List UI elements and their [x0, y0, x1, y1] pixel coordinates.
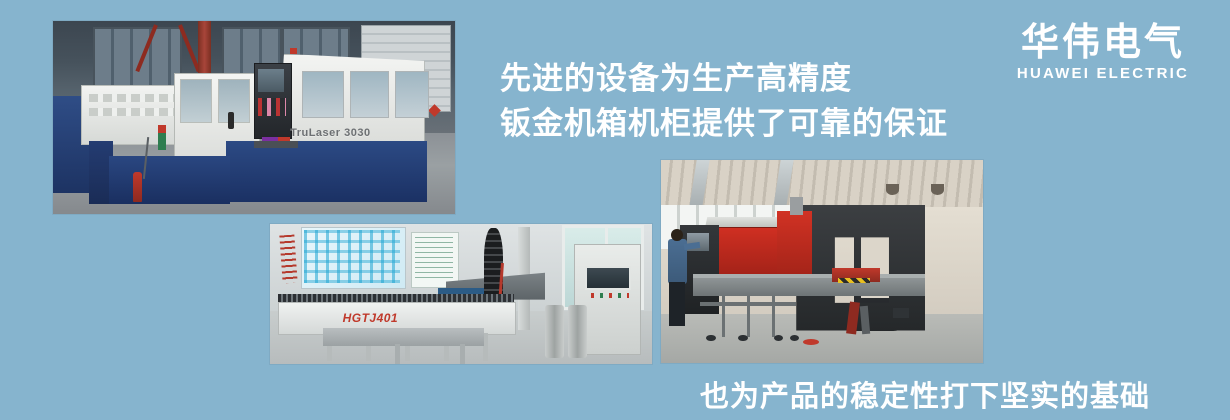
photo-cnc-cutting-table[interactable]: HGTJ401	[270, 224, 652, 364]
signal-lamp	[290, 48, 296, 54]
work-table	[323, 328, 483, 346]
cabinet-buttons	[591, 293, 629, 299]
red-lamp	[158, 125, 166, 133]
machine-base-blue	[226, 141, 427, 203]
red-machine-housing	[777, 211, 812, 280]
machine-model-label: HGTJ401	[343, 311, 399, 325]
headline-line-1: 先进的设备为生产高精度	[500, 56, 1020, 101]
machine-bed	[693, 278, 925, 296]
logo-chinese-name: 华伟电气	[1013, 22, 1193, 64]
company-equipment-banner: TruLaser 3030	[0, 0, 1230, 420]
enclosure-window	[395, 71, 429, 117]
ceiling-lamp	[931, 184, 944, 194]
cabinet-screen	[585, 266, 631, 290]
work-table-legs	[335, 344, 476, 364]
logo-english-name: HUAWEI ELECTRIC	[1013, 64, 1193, 84]
photo-cnc-turret-punch-press[interactable]	[661, 160, 983, 363]
company-logo[interactable]: 华伟电气 HUAWEI ELECTRIC	[1013, 22, 1193, 84]
tool-item	[278, 137, 290, 141]
hood-vent	[89, 94, 185, 102]
control-buttons	[258, 98, 286, 115]
headline-line-2: 钣金机箱机柜提供了可靠的保证	[500, 101, 1020, 146]
green-control-box	[158, 133, 166, 150]
machine-model-label: TruLaser 3030	[290, 127, 371, 139]
red-cable-coil	[803, 339, 819, 345]
operator-legs	[669, 282, 685, 327]
cutting-table-scene	[270, 224, 652, 364]
slat-rail	[278, 294, 515, 302]
gas-cylinder	[568, 305, 587, 358]
caster-wheel	[738, 335, 748, 341]
machine-base-blue	[109, 156, 230, 204]
hood-vent	[89, 108, 185, 116]
control-screen	[258, 69, 284, 92]
headline: 先进的设备为生产高精度 钣金机箱机柜提供了可靠的保证	[500, 56, 1020, 146]
cabinet-window	[180, 79, 212, 123]
tagline: 也为产品的稳定性打下坚实的基础	[700, 373, 1150, 415]
operator-head	[671, 229, 683, 241]
ceiling-lamp	[886, 184, 899, 194]
machine-tower	[790, 197, 803, 215]
control-box	[893, 308, 909, 318]
gas-cylinder	[545, 305, 564, 358]
factory-roof	[661, 160, 983, 207]
wall-poster-graphic	[304, 230, 400, 283]
tool-tray	[254, 141, 298, 149]
wall-notice-text	[415, 237, 453, 279]
tool-item	[262, 137, 278, 142]
punch-press-scene	[661, 160, 983, 363]
caster-wheel	[706, 335, 716, 341]
door-handle	[228, 112, 234, 129]
laser-machine-scene	[53, 21, 455, 214]
enclosure-window	[350, 71, 388, 117]
conveyor-bar	[700, 302, 797, 306]
photo-laser-cutting-machine[interactable]: TruLaser 3030	[53, 21, 455, 214]
enclosure-window	[302, 71, 344, 117]
hazard-stripe	[838, 278, 870, 283]
fire-extinguisher	[133, 172, 142, 203]
